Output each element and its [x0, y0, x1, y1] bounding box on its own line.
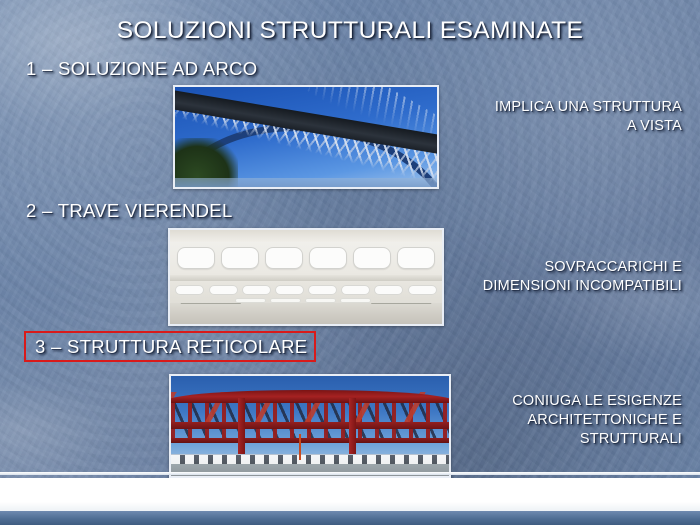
footer-bottom-bar: [0, 511, 700, 525]
truss-photo-mid-chord: [169, 422, 451, 429]
solution-1-label: 1 – SOLUZIONE AD ARCO: [26, 58, 257, 80]
truss-photo-column: [349, 398, 356, 460]
truss-photo-column: [238, 398, 245, 460]
vierendeel-photo-right-edge: [360, 303, 431, 324]
vierendeel-beam-photo: [168, 228, 444, 326]
solution-3-label[interactable]: 3 – STRUTTURA RETICOLARE: [24, 331, 316, 362]
truss-photo-site-buildings: [171, 455, 449, 464]
vierendeel-photo-mid-chord: [170, 275, 442, 281]
solution-2-label: 2 – TRAVE VIERENDEL: [26, 200, 233, 222]
solution-2-note: SOVRACCARICHI E DIMENSIONI INCOMPATIBILI: [483, 258, 682, 296]
presentation-slide: SOLUZIONI STRUTTURALI ESAMINATE 1 – SOLU…: [0, 0, 700, 525]
vierendeel-photo-lower-openings: [175, 282, 436, 298]
arch-photo-valley: [175, 178, 437, 187]
vierendeel-photo-top-chord: [170, 230, 442, 242]
solution-3-note: CONIUGA LE ESIGENZE ARCHITETTONICHE E ST…: [512, 392, 682, 449]
vierendeel-photo-upper-openings: [173, 242, 440, 274]
vierendeel-photo-left-edge: [181, 303, 252, 324]
footer-rule: [0, 472, 700, 475]
slide-title: SOLUZIONI STRUTTURALI ESAMINATE: [0, 17, 700, 45]
solution-1-note: IMPLICA UNA STRUTTURA A VISTA: [495, 98, 682, 136]
steel-truss-photo: [169, 374, 451, 478]
footer-band: cllo PROGETTAZIONI E TECNOLOGIE PER LE C…: [0, 478, 700, 511]
truss-photo-bottom-chord: [169, 438, 451, 443]
arch-bridge-photo: [173, 85, 439, 189]
truss-photo-crane: [299, 434, 301, 460]
